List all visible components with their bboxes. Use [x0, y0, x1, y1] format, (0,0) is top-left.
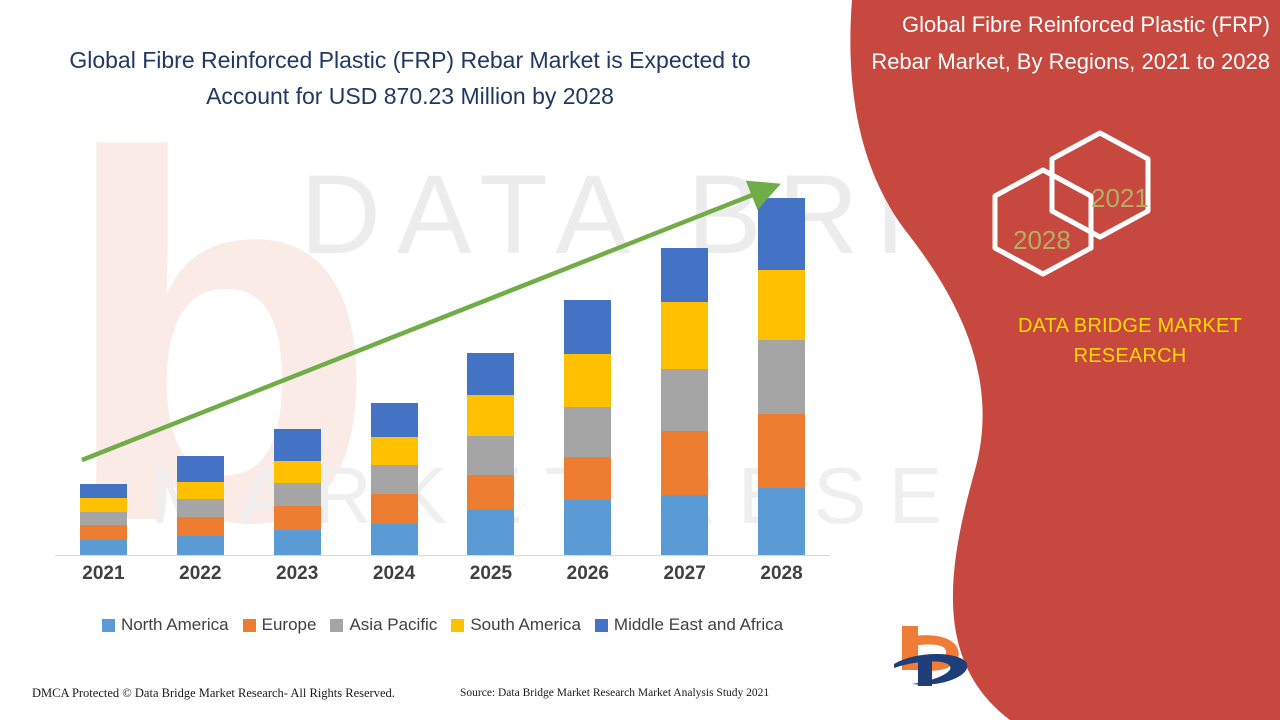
stacked-bar-2024[interactable]	[371, 403, 418, 555]
bar-segment[interactable]	[661, 302, 708, 369]
bar-segment[interactable]	[564, 457, 611, 500]
bar-segment[interactable]	[661, 369, 708, 431]
stacked-bar-group	[55, 150, 830, 555]
bar-segment[interactable]	[80, 498, 127, 512]
legend-label: North America	[121, 615, 229, 635]
stacked-bar-2022[interactable]	[177, 456, 224, 555]
hexagon-start-label: 2021	[1091, 183, 1149, 214]
source-notice: Source: Data Bridge Market Research Mark…	[460, 687, 769, 699]
bar-segment[interactable]	[371, 403, 418, 438]
legend-swatch-icon	[102, 619, 115, 632]
legend-item[interactable]: Middle East and Africa	[595, 615, 783, 635]
bar-segment[interactable]	[177, 536, 224, 555]
infographic-canvas: b DATA BRI MARKET RESEARCH Global Fibre …	[0, 0, 1280, 720]
bar-segment[interactable]	[467, 510, 514, 555]
legend-swatch-icon	[243, 619, 256, 632]
bar-segment[interactable]	[371, 465, 418, 494]
x-axis-label-2027: 2027	[661, 563, 708, 593]
x-axis-label-2026: 2026	[564, 563, 611, 593]
bar-segment[interactable]	[274, 429, 321, 461]
stacked-bar-2025[interactable]	[467, 353, 514, 555]
bar-segment[interactable]	[371, 524, 418, 555]
bar-segment[interactable]	[274, 461, 321, 483]
legend-label: Europe	[262, 615, 317, 635]
bar-segment[interactable]	[758, 270, 805, 340]
bar-segment[interactable]	[467, 436, 514, 475]
legend-item[interactable]: Asia Pacific	[330, 615, 437, 635]
bar-segment[interactable]	[564, 500, 611, 555]
legend-label: Asia Pacific	[349, 615, 437, 635]
bar-segment[interactable]	[758, 340, 805, 414]
stacked-bar-2023[interactable]	[274, 429, 321, 555]
bar-segment[interactable]	[564, 407, 611, 457]
brand-name: DATA BRIDGE MARKET RESEARCH	[985, 311, 1275, 371]
bar-segment[interactable]	[661, 248, 708, 302]
bar-segment[interactable]	[758, 198, 805, 269]
bar-segment[interactable]	[274, 483, 321, 506]
logo-mark-icon	[888, 620, 1108, 690]
bar-segment[interactable]	[371, 494, 418, 524]
bar-segment[interactable]	[80, 525, 127, 539]
chart-plot-area	[55, 150, 830, 556]
legend-item[interactable]: Europe	[243, 615, 317, 635]
legend-swatch-icon	[330, 619, 343, 632]
x-axis-label-2028: 2028	[758, 563, 805, 593]
bar-segment[interactable]	[177, 517, 224, 535]
bar-segment[interactable]	[661, 495, 708, 555]
bar-segment[interactable]	[80, 540, 127, 555]
data-bridge-logo: DATA BRIDGE MARKET RESEARCH	[888, 620, 1108, 690]
x-axis-label-2023: 2023	[274, 563, 321, 593]
bar-segment[interactable]	[758, 414, 805, 487]
x-axis-label-2024: 2024	[371, 563, 418, 593]
bar-segment[interactable]	[177, 456, 224, 482]
bar-segment[interactable]	[564, 354, 611, 406]
page-title: Global Fibre Reinforced Plastic (FRP) Re…	[60, 42, 760, 114]
x-axis-label-2022: 2022	[177, 563, 224, 593]
bar-segment[interactable]	[758, 488, 805, 556]
bar-segment[interactable]	[177, 482, 224, 499]
hexagon-end-label: 2028	[1013, 225, 1071, 256]
bar-segment[interactable]	[80, 484, 127, 498]
bar-segment[interactable]	[467, 475, 514, 510]
bar-segment[interactable]	[371, 437, 418, 465]
legend-swatch-icon	[451, 619, 464, 632]
stacked-bar-2021[interactable]	[80, 484, 127, 555]
bar-segment[interactable]	[177, 499, 224, 517]
x-axis-label-2025: 2025	[467, 563, 514, 593]
legend-label: Middle East and Africa	[614, 615, 783, 635]
legend-label: South America	[470, 615, 581, 635]
stacked-bar-2027[interactable]	[661, 248, 708, 555]
bar-segment[interactable]	[467, 353, 514, 395]
year-hexagons: 2021 2028	[985, 125, 1185, 280]
bar-segment[interactable]	[467, 395, 514, 436]
legend-item[interactable]: North America	[102, 615, 229, 635]
stacked-bar-2026[interactable]	[564, 300, 611, 555]
bar-segment[interactable]	[80, 512, 127, 526]
x-axis-line	[55, 555, 830, 556]
panel-title: Global Fibre Reinforced Plastic (FRP) Re…	[870, 6, 1270, 80]
copyright-notice: DMCA Protected © Data Bridge Market Rese…	[32, 686, 395, 701]
chart-legend: North AmericaEuropeAsia PacificSouth Ame…	[55, 615, 830, 635]
bar-segment[interactable]	[274, 506, 321, 530]
x-axis-label-2021: 2021	[80, 563, 127, 593]
legend-item[interactable]: South America	[451, 615, 581, 635]
bar-segment[interactable]	[564, 300, 611, 354]
x-axis-labels: 20212022202320242025202620272028	[55, 563, 830, 593]
bar-segment[interactable]	[661, 431, 708, 496]
hexagon-outlines	[985, 125, 1185, 280]
stacked-bar-2028[interactable]	[758, 198, 805, 555]
bar-segment[interactable]	[274, 530, 321, 555]
legend-swatch-icon	[595, 619, 608, 632]
